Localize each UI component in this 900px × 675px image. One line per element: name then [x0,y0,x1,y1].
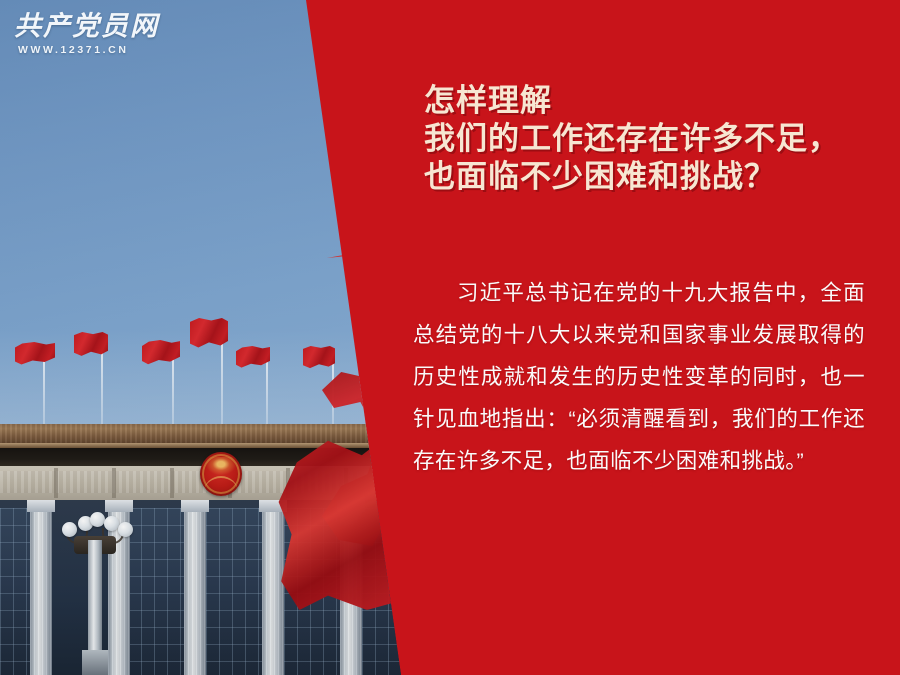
site-logo-name: 共产党员网 [14,12,164,40]
facade-column [30,500,52,675]
lamp-globe [104,516,119,531]
flag-pole [266,352,268,426]
great-hall-photo [0,0,410,675]
window-bay [0,508,34,675]
body-paragraph: 习近平总书记在党的十九大报告中，全面总结党的十八大以来党和国家事业发展取得的历史… [413,272,865,482]
column-capital [181,500,209,512]
column-fluting [184,512,206,675]
national-emblem-icon [200,452,242,496]
facade-column [184,500,206,675]
facade-column [262,500,284,675]
site-logo-url: WWW.12371.CN [18,44,164,56]
title-line-2: 我们的工作还存在许多不足， [424,120,876,158]
column-fluting [262,512,284,675]
lamp-globe [118,522,133,537]
roof-eave-texture [0,424,410,445]
column-capital [27,500,55,512]
emblem-ring [202,454,240,494]
lamp-base [82,650,108,675]
lamp-globe [62,522,77,537]
site-logo[interactable]: 共产党员网 WWW.12371.CN [14,12,164,56]
poster-canvas: 共产党员网 WWW.12371.CN 怎样理解 我们的工作还存在许多不足， 也面… [0,0,900,675]
lamp-globe [90,512,105,527]
title-line-1: 怎样理解 [424,82,876,120]
column-fluting [30,512,52,675]
window-bay [206,508,262,675]
street-lamp [52,500,138,675]
page-title: 怎样理解 我们的工作还存在许多不足， 也面临不少困难和挑战？ [424,82,876,196]
title-line-3: 也面临不少困难和挑战？ [424,158,876,196]
